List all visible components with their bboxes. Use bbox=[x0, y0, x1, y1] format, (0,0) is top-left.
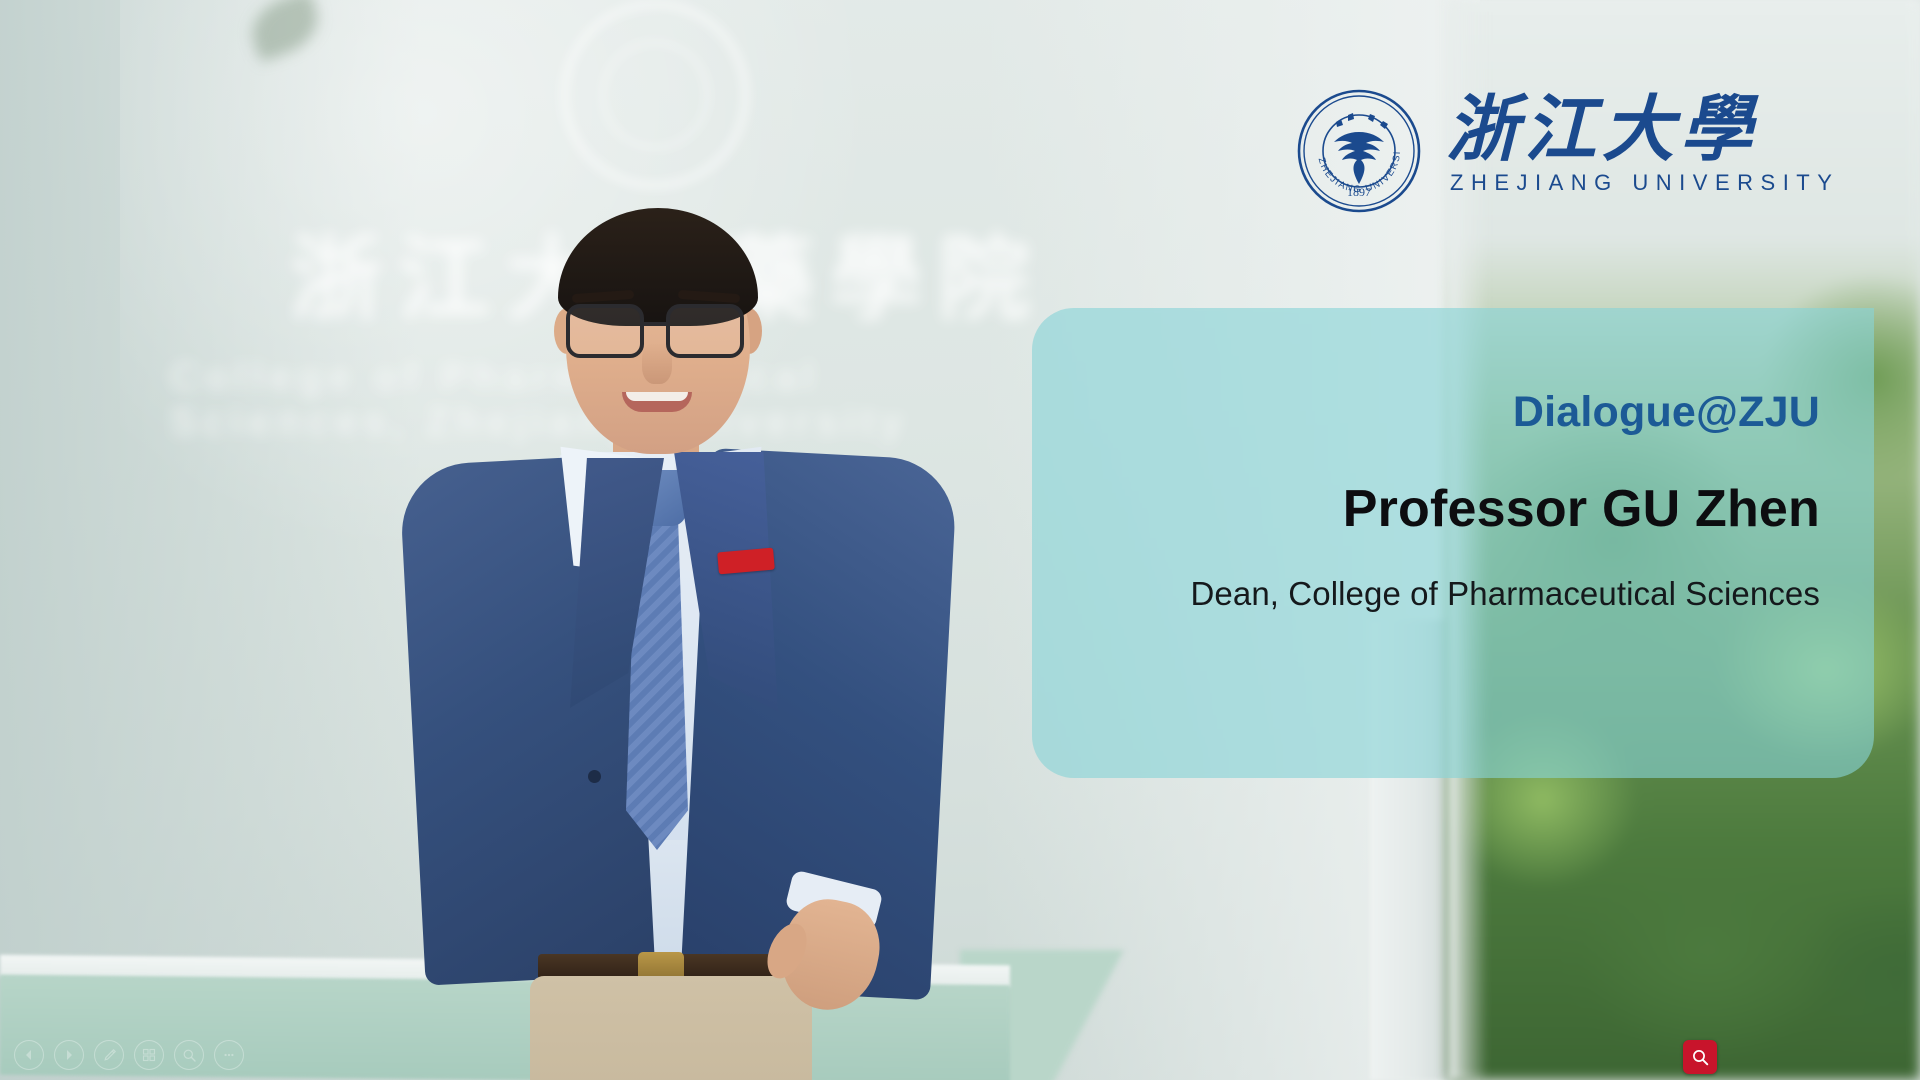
search-icon bbox=[1691, 1048, 1710, 1067]
search-button[interactable] bbox=[1683, 1040, 1717, 1074]
slide-overview-button[interactable] bbox=[134, 1040, 164, 1070]
eyeglasses-lens-left bbox=[566, 304, 644, 358]
slideshow-toolbar bbox=[14, 1040, 244, 1070]
previous-slide-button[interactable] bbox=[14, 1040, 44, 1070]
zju-wordmark-english: ZHEJIANG UNIVERSITY bbox=[1446, 170, 1856, 196]
eyeglasses-lens-right bbox=[666, 304, 744, 358]
zju-wordmark: 浙江大學 ZHEJIANG UNIVERSITY bbox=[1446, 88, 1856, 196]
jacket-button bbox=[588, 770, 601, 783]
zju-seal-icon: 1897 ZHEJIANG UNIVERSITY bbox=[1296, 88, 1422, 214]
more-options-button[interactable] bbox=[214, 1040, 244, 1070]
series-title: Dialogue@ZJU bbox=[1513, 388, 1820, 437]
pen-icon bbox=[102, 1048, 117, 1063]
teeth bbox=[626, 392, 688, 401]
zju-wordmark-chinese: 浙江大學 bbox=[1446, 88, 1856, 170]
speaker-name: Professor GU Zhen bbox=[1343, 479, 1820, 539]
grid-icon bbox=[142, 1048, 156, 1062]
eyeglasses-bridge bbox=[644, 322, 668, 326]
pen-tool-button[interactable] bbox=[94, 1040, 124, 1070]
speaker-role: Dean, College of Pharmaceutical Sciences bbox=[1190, 575, 1820, 613]
ellipsis-icon bbox=[222, 1048, 236, 1062]
zoom-slide-button[interactable] bbox=[174, 1040, 204, 1070]
magnifier-icon bbox=[182, 1048, 197, 1063]
chevron-left-icon bbox=[22, 1048, 36, 1062]
presentation-slide: 浙江大學藥學院 College of Pharmaceutical Scienc… bbox=[0, 0, 1920, 1080]
zhejiang-university-logo: 1897 ZHEJIANG UNIVERSITY 浙江大學 ZHEJIANG U… bbox=[1296, 88, 1856, 218]
chevron-right-icon bbox=[62, 1048, 76, 1062]
trousers bbox=[530, 976, 812, 1080]
speaker-info-panel: Dialogue@ZJU Professor GU Zhen Dean, Col… bbox=[1032, 308, 1874, 778]
wall-emblem-inner-ring bbox=[600, 40, 710, 150]
next-slide-button[interactable] bbox=[54, 1040, 84, 1070]
subject-photo-person bbox=[370, 180, 1070, 1080]
